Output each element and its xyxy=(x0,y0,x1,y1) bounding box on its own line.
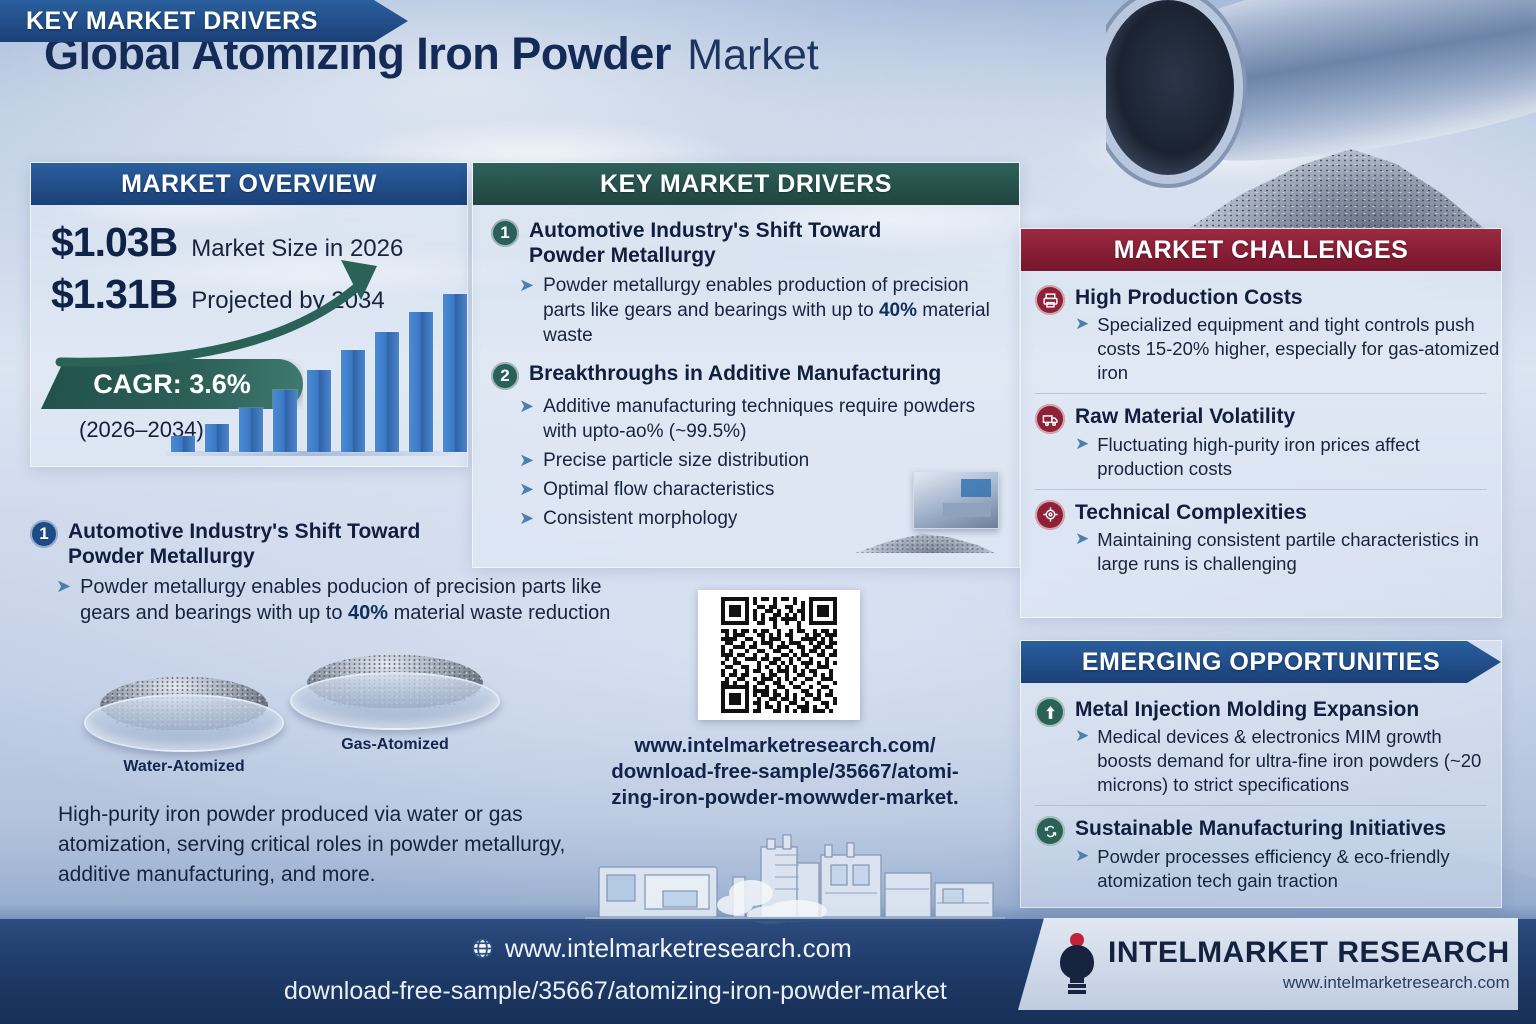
water-atomized-label: Water-Atomized xyxy=(84,758,284,776)
divider xyxy=(1035,489,1487,490)
challenge-bullet-text: Specialized equipment and tight controls… xyxy=(1097,313,1501,385)
challenge-bullet: ➤ Fluctuating high-purity iron prices af… xyxy=(1075,433,1501,481)
challenge-item-2: Raw Material Volatility ➤ Fluctuating hi… xyxy=(1021,398,1501,484)
market-challenges-header: MARKET CHALLENGES xyxy=(1021,229,1501,271)
key-market-drivers-bottom-title: KEY MARKET DRIVERS xyxy=(0,7,408,36)
bullet-arrow-icon: ➤ xyxy=(1075,528,1089,576)
driver-bullet: ➤ Powder metallurgy enables poducion of … xyxy=(56,574,656,627)
page-title-light: Market xyxy=(687,31,818,79)
atomizer-machine-image xyxy=(855,467,1005,553)
challenge-item-1: High Production Costs ➤ Specialized equi… xyxy=(1021,279,1501,389)
bullet-arrow-icon: ➤ xyxy=(1075,433,1089,481)
qr-code-image xyxy=(705,597,853,713)
footer-path-text: download-free-sample/35667/atomizing-iro… xyxy=(284,977,947,1006)
company-logo: INTELMARKET RESEARCH www.intelmarketrese… xyxy=(1018,918,1518,1010)
opportunity-item-2: Sustainable Manufacturing Initiatives ➤ … xyxy=(1021,810,1501,896)
driver-bottom-content: 1 Automotive Industry's Shift Toward Pow… xyxy=(30,520,670,630)
challenge-bullet: ➤ Specialized equipment and tight contro… xyxy=(1075,313,1501,385)
bulb-icon xyxy=(1058,933,1096,995)
opportunity-bullet: ➤ Medical devices & electronics MIM grow… xyxy=(1075,725,1501,797)
bullet-arrow-icon: ➤ xyxy=(1075,725,1089,797)
driver-bullet-text: Powder metallurgy enables poducion of pr… xyxy=(80,574,656,627)
challenge-bullet: ➤ Maintaining consistent partile charact… xyxy=(1075,528,1501,576)
market-overview-panel: MARKET OVERVIEW $1.03B Market Size in 20… xyxy=(30,162,468,467)
bullet-arrow-icon: ➤ xyxy=(1075,845,1089,893)
recycle-icon xyxy=(1035,816,1065,846)
emerging-opportunities-title: EMERGING OPPORTUNITIES xyxy=(1021,648,1501,677)
driver-bullet: ➤ Additive manufacturing techniques requ… xyxy=(519,394,1003,444)
opportunity-bullet: ➤ Powder processes efficiency & eco-frie… xyxy=(1075,845,1501,893)
challenge-title: High Production Costs xyxy=(1075,285,1501,310)
gas-atomized-label: Gas-Atomized xyxy=(290,736,500,754)
iron-powder-pipe-image xyxy=(1106,0,1536,230)
market-growth-bar-chart xyxy=(165,267,455,462)
driver-title: Automotive Industry's Shift Toward Powde… xyxy=(529,219,949,269)
bullet-arrow-icon: ➤ xyxy=(519,477,534,502)
driver-title: Automotive Industry's Shift Toward Powde… xyxy=(68,520,428,570)
key-market-drivers-top-panel: KEY MARKET DRIVERS 1 Automotive Industry… xyxy=(472,162,1020,568)
logo-website: www.intelmarketresearch.com xyxy=(1108,973,1510,993)
arrow-up-icon xyxy=(1035,697,1065,727)
logo-company-name: INTELMARKET RESEARCH xyxy=(1108,936,1510,970)
footer-website[interactable]: www.intelmarketresearch.com xyxy=(470,933,852,964)
gas-atomized-dish: Gas-Atomized xyxy=(290,650,500,760)
petri-dish-glass xyxy=(84,694,284,752)
emerging-opportunities-panel: EMERGING OPPORTUNITIES Metal Injection M… xyxy=(1020,640,1502,908)
opportunity-item-1: Metal Injection Molding Expansion ➤ Medi… xyxy=(1021,691,1501,801)
gear-target-icon xyxy=(1035,500,1065,530)
growth-arrow-icon xyxy=(165,244,455,444)
driver-number-badge: 1 xyxy=(491,219,519,247)
driver-number-badge: 1 xyxy=(30,520,58,548)
qr-url-line-2: download-free-sample/35667/atomi- xyxy=(575,759,995,785)
challenge-bullet-text: Fluctuating high-purity iron prices affe… xyxy=(1097,433,1501,481)
market-overview-header: MARKET OVERVIEW xyxy=(31,163,467,205)
market-size-2026-value: $1.03B xyxy=(51,219,177,266)
key-market-drivers-bottom-header: KEY MARKET DRIVERS xyxy=(0,0,408,42)
driver-number-badge: 2 xyxy=(491,362,519,390)
market-challenges-title: MARKET CHALLENGES xyxy=(1021,236,1501,265)
challenge-title: Raw Material Volatility xyxy=(1075,404,1501,429)
factory-plant-image xyxy=(585,829,1005,929)
driver-title: Breakthroughs in Additive Manufacturing xyxy=(529,362,941,390)
driver-bullet-text: Powder metallurgy enables production of … xyxy=(543,273,1003,348)
opportunity-bullet-text: Powder processes efficiency & eco-friend… xyxy=(1097,845,1501,893)
challenge-bullet-text: Maintaining consistent partile character… xyxy=(1097,528,1501,576)
driver-bullet: ➤ Powder metallurgy enables production o… xyxy=(519,273,1003,348)
opportunity-bullet-text: Medical devices & electronics MIM growth… xyxy=(1097,725,1501,797)
driver-bullet-text: Optimal flow characteristics xyxy=(543,477,774,502)
challenge-title: Technical Complexities xyxy=(1075,500,1501,525)
driver-item-1: 1 Automotive Industry's Shift Toward Pow… xyxy=(491,219,1003,348)
qr-url-line-1: www.intelmarketresearch.com/ xyxy=(575,733,995,759)
bullet-arrow-icon: ➤ xyxy=(1075,313,1089,385)
bullet-arrow-icon: ➤ xyxy=(519,448,534,473)
key-market-drivers-top-title: KEY MARKET DRIVERS xyxy=(473,170,1019,199)
petri-dish-glass xyxy=(290,672,500,730)
opportunity-title: Sustainable Manufacturing Initiatives xyxy=(1075,816,1501,841)
divider xyxy=(1035,393,1487,394)
qr-url-text: www.intelmarketresearch.com/ download-fr… xyxy=(575,733,995,812)
emerging-opportunities-header: EMERGING OPPORTUNITIES xyxy=(1021,641,1501,683)
water-atomized-dish: Water-Atomized xyxy=(84,672,284,782)
driver-bullet-text: Additive manufacturing techniques requir… xyxy=(543,394,1003,444)
opportunity-title: Metal Injection Molding Expansion xyxy=(1075,697,1501,722)
driver-bullet-text: Precise particle size distribution xyxy=(543,448,809,473)
divider xyxy=(1035,805,1487,806)
truck-icon xyxy=(1035,404,1065,434)
printer-icon xyxy=(1035,285,1065,315)
bullet-arrow-icon: ➤ xyxy=(519,394,534,444)
market-challenges-panel: MARKET CHALLENGES High Production Costs … xyxy=(1020,228,1502,618)
market-size-2034-value: $1.31B xyxy=(51,271,177,318)
bullet-arrow-icon: ➤ xyxy=(519,273,534,348)
challenge-item-3: Technical Complexities ➤ Maintaining con… xyxy=(1021,494,1501,580)
bullet-arrow-icon: ➤ xyxy=(56,574,71,627)
product-description: High-purity iron powder produced via wat… xyxy=(58,800,588,889)
qr-url-line-3: zing-iron-powder-mowwder-market. xyxy=(575,785,995,811)
qr-code[interactable] xyxy=(698,590,860,720)
key-market-drivers-top-header: KEY MARKET DRIVERS xyxy=(473,163,1019,205)
market-overview-title: MARKET OVERVIEW xyxy=(31,170,467,199)
pipe-opening xyxy=(1106,0,1234,175)
globe-icon xyxy=(470,936,495,961)
footer-website-text: www.intelmarketresearch.com xyxy=(505,933,852,964)
